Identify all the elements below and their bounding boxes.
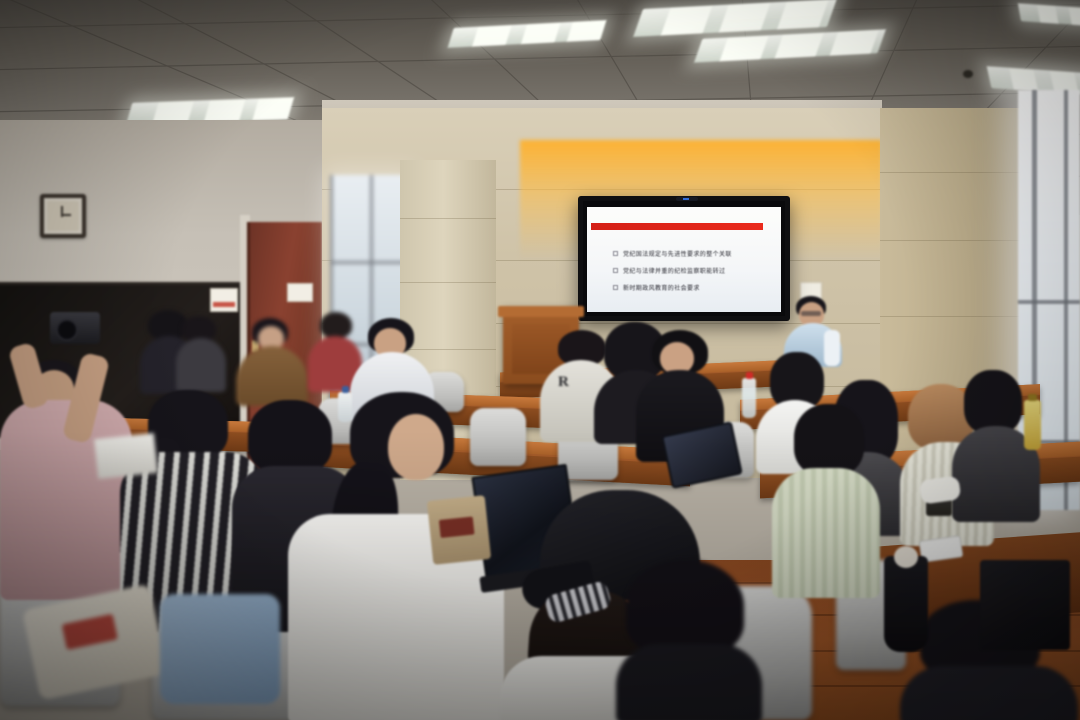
wall-display[interactable]: 党纪国法规定与先进性要求的整个关联 党纪与法律并重的纪检监察职能转过 新时期政风… <box>578 196 790 321</box>
bag-logo <box>62 614 118 650</box>
fire-notice-sign <box>210 288 238 312</box>
bag-charm[interactable] <box>884 556 928 652</box>
slide-bullet: 党纪国法规定与先进性要求的整个关联 <box>613 249 769 258</box>
coffee-cup[interactable] <box>926 486 952 516</box>
bullet-marker-icon <box>613 268 618 273</box>
presentation-slide: 党纪国法规定与先进性要求的整个关联 党纪与法律并重的纪检监察职能转过 新时期政风… <box>587 207 781 312</box>
wall-clock <box>40 194 86 238</box>
water-bottle-red-cap[interactable] <box>742 378 756 418</box>
attendee <box>176 316 228 390</box>
lecture-room-photo: 党纪国法规定与先进性要求的整个关联 党纪与法律并重的纪检监察职能转过 新时期政风… <box>0 0 1080 720</box>
bullet-marker-icon <box>613 251 618 256</box>
ceiling-sensor <box>963 70 973 78</box>
glasses-icon <box>801 311 821 316</box>
slide-accent-bar <box>591 223 763 230</box>
papers <box>94 433 158 479</box>
room-number-sign <box>287 283 313 302</box>
tea-bottle-yellow[interactable] <box>1024 400 1041 450</box>
camera-icon <box>676 197 698 201</box>
slide-bullet: 新时期政风教育的社会要求 <box>613 283 769 292</box>
attendee <box>616 560 766 720</box>
camera-device[interactable] <box>50 312 100 344</box>
camera-lens-icon <box>56 319 78 341</box>
jacket-on-chair <box>160 594 280 704</box>
shirt-graphic: R <box>558 374 574 392</box>
plush-charm-icon <box>894 546 918 568</box>
bag-logo <box>439 516 475 537</box>
bullet-marker-icon <box>613 285 618 290</box>
water-bottle[interactable] <box>338 392 352 422</box>
backpack-black[interactable] <box>980 560 1070 650</box>
attendee-green-cardigan <box>772 404 882 594</box>
tote-bag-tan[interactable] <box>427 495 491 565</box>
slide-bullet: 党纪与法律并重的纪检监察职能转过 <box>613 266 769 275</box>
